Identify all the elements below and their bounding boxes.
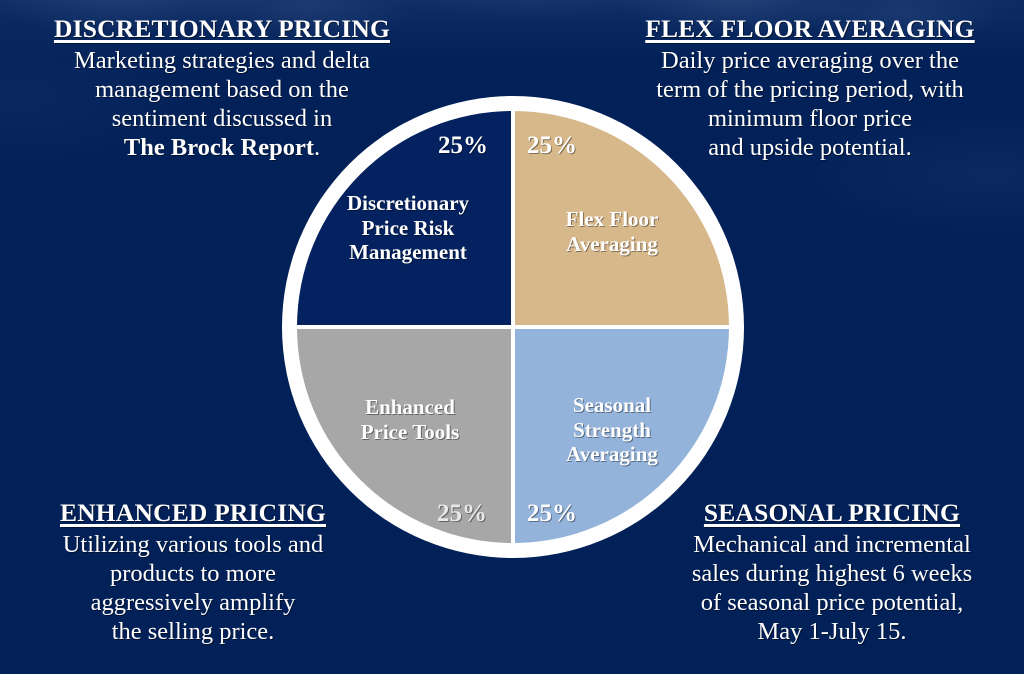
pie-slice-label-line: Management — [347, 240, 469, 265]
callout-line: the selling price. — [8, 618, 378, 647]
pie-slice-label-line: Strength — [566, 418, 658, 443]
callout-line: Daily price averaging over the — [610, 47, 1010, 76]
callout-line: products to more — [8, 560, 378, 589]
callout-line: Marketing strategies and delta — [12, 47, 432, 76]
pie-slice-label-line: Enhanced — [361, 395, 460, 420]
pie-slice-label: Flex Floor Averaging — [560, 207, 665, 257]
pie-slice-label-line: Price Tools — [361, 420, 460, 445]
pie-slice-label-line: Discretionary — [347, 191, 469, 216]
pie-slices: Discretionary Price Risk Management Flex… — [297, 111, 729, 543]
pie-percent-flex-floor: 25% — [527, 132, 577, 160]
callout-line: May 1-July 15. — [652, 618, 1012, 647]
callout-heading-discretionary: DISCRETIONARY PRICING — [12, 14, 432, 44]
pie-chart: Discretionary Price Risk Management Flex… — [282, 96, 744, 558]
pie-slice-label: Enhanced Price Tools — [355, 395, 466, 445]
pie-percent-discretionary: 25% — [438, 132, 488, 160]
pie-percent-enhanced: 25% — [437, 500, 487, 528]
pie-percent-seasonal: 25% — [527, 500, 577, 528]
callout-line: of seasonal price potential, — [652, 589, 1012, 618]
pie-slice-label-line: Averaging — [566, 232, 659, 257]
pie-slice-label-line: Averaging — [566, 442, 658, 467]
pie-slice-label-line: Price Risk — [347, 216, 469, 241]
pie-slice-label-line: Flex Floor — [566, 207, 659, 232]
pie-slice-label: Discretionary Price Risk Management — [341, 191, 475, 265]
pie-slice-label-line: Seasonal — [566, 393, 658, 418]
pie-slice-label: Seasonal Strength Averaging — [560, 393, 664, 467]
callout-line: sales during highest 6 weeks — [652, 560, 1012, 589]
infographic-canvas: DISCRETIONARY PRICING Marketing strategi… — [0, 0, 1024, 674]
callout-heading-flex-floor: FLEX FLOOR AVERAGING — [610, 14, 1010, 44]
callout-line: aggressively amplify — [8, 589, 378, 618]
